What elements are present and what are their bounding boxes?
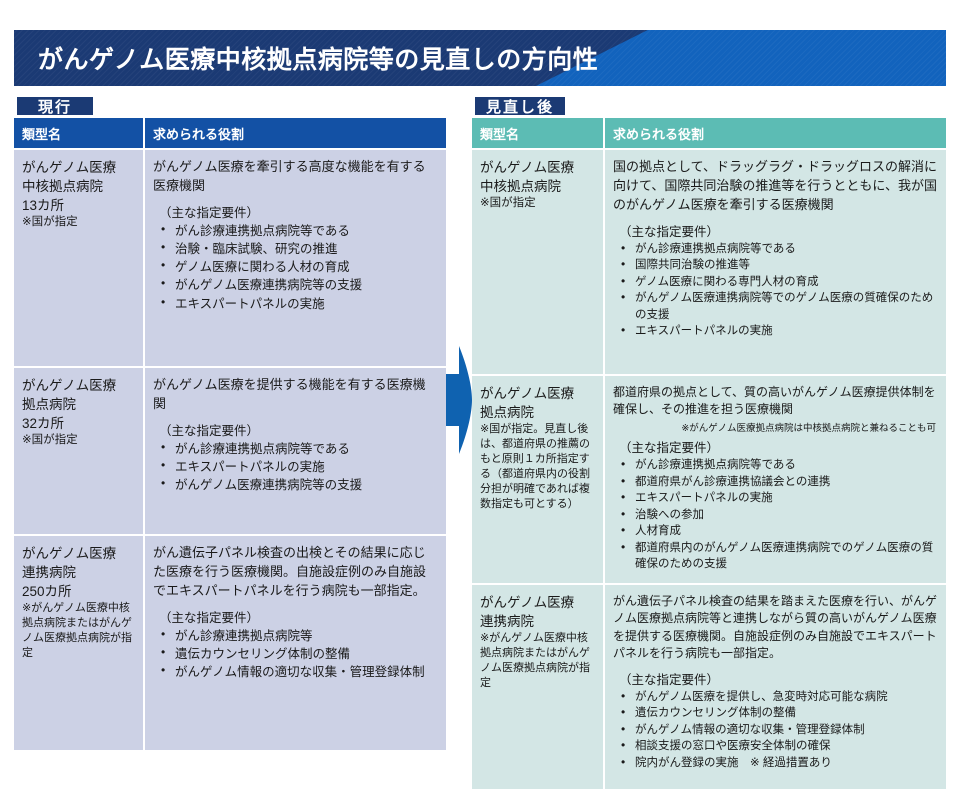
- role-footnote: ※がんゲノム医療拠点病院は中核拠点病院と兼ねることも可: [613, 423, 936, 435]
- type-name-text: がんゲノム医療拠点病院32カ所: [22, 376, 135, 433]
- list-item: ゲノム医療に関わる人材の育成: [153, 258, 438, 276]
- list-item: がん診療連携拠点病院等: [153, 627, 438, 645]
- requirements-title: （主な指定要件）: [159, 607, 438, 626]
- list-item: 都道府県内のがんゲノム医療連携病院でのゲノム医療の質確保のための支援: [613, 540, 938, 573]
- role-description: がん遺伝子パネル検査の出検とその結果に応じた医療を行う医療機関。自施設症例のみ自…: [153, 544, 438, 601]
- list-item: がんゲノム医療連携病院等でのゲノム医療の質確保のための支援: [613, 290, 938, 323]
- requirements-list: がん診療連携拠点病院等である エキスパートパネルの実施 がんゲノム医療連携病院等…: [153, 440, 438, 495]
- requirements-list: がん診療連携拠点病院等である 都道府県がん診療連携協議会との連携 エキスパートパ…: [613, 457, 938, 573]
- requirements-list: がん診療連携拠点病院等である 治験・臨床試験、研究の推進 ゲノム医療に関わる人材…: [153, 222, 438, 313]
- list-item: エキスパートパネルの実施: [153, 295, 438, 313]
- type-name-text: がんゲノム医療中核拠点病院13カ所: [22, 158, 135, 215]
- tab-revised-state[interactable]: 見直し後: [472, 94, 568, 118]
- role-cell: がん遺伝子パネル検査の出検とその結果に応じた医療を行う医療機関。自施設症例のみ自…: [144, 535, 446, 750]
- requirements-list: がん診療連携拠点病院等である 国際共同治験の推進等 ゲノム医療に関わる専門人材の…: [613, 241, 938, 340]
- table-header-row: 類型名 求められる役割: [472, 118, 946, 149]
- role-cell: 都道府県の拠点として、質の高いがんゲノム医療提供体制を確保し、その推進を担う医療…: [604, 375, 946, 584]
- type-name-note: ※がんゲノム医療中核拠点病院またはがんゲノム医療拠点病院が指定: [22, 601, 135, 661]
- list-item: がんゲノム医療連携病院等の支援: [153, 476, 438, 494]
- requirements-list: がん診療連携拠点病院等 遺伝カウンセリング体制の整備 がんゲノム情報の適切な収集…: [153, 627, 438, 682]
- column-header-role: 求められる役割: [144, 118, 446, 149]
- revised-state-table: 類型名 求められる役割 がんゲノム医療中核拠点病院 ※国が指定 国の拠点として、…: [472, 118, 946, 789]
- list-item: ゲノム医療に関わる専門人材の育成: [613, 274, 938, 291]
- table-row: がんゲノム医療連携病院250カ所 ※がんゲノム医療中核拠点病院またはがんゲノム医…: [14, 535, 446, 750]
- column-header-type-name: 類型名: [14, 118, 144, 149]
- role-description: がんゲノム医療を牽引する高度な機能を有する医療機関: [153, 158, 438, 196]
- role-cell: 国の拠点として、ドラッグラグ・ドラッグロスの解消に向けて、国際共同治験の推進等を…: [604, 149, 946, 375]
- list-item: 遺伝カウンセリング体制の整備: [613, 705, 938, 722]
- role-cell: がんゲノム医療を提供する機能を有する医療機関 （主な指定要件） がん診療連携拠点…: [144, 367, 446, 535]
- list-item: エキスパートパネルの実施: [153, 458, 438, 476]
- type-name-note: ※がんゲノム医療中核拠点病院またはがんゲノム医療拠点病院が指定: [480, 631, 595, 691]
- type-name-note: ※国が指定: [22, 433, 135, 449]
- type-name-text: がんゲノム医療連携病院: [480, 593, 595, 631]
- list-item: がんゲノム医療連携病院等の支援: [153, 276, 438, 294]
- requirements-title: （主な指定要件）: [159, 420, 438, 439]
- type-name-cell: がんゲノム医療拠点病院32カ所 ※国が指定: [14, 367, 144, 535]
- table-row: がんゲノム医療拠点病院32カ所 ※国が指定 がんゲノム医療を提供する機能を有する…: [14, 367, 446, 535]
- list-item: 遺伝カウンセリング体制の整備: [153, 645, 438, 663]
- role-description: 都道府県の拠点として、質の高いがんゲノム医療提供体制を確保し、その推進を担う医療…: [613, 384, 938, 419]
- type-name-cell: がんゲノム医療連携病院 ※がんゲノム医療中核拠点病院またはがんゲノム医療拠点病院…: [472, 584, 604, 789]
- list-item: 院内がん登録の実施 ※ 経過措置あり: [613, 755, 938, 772]
- type-name-text: がんゲノム医療拠点病院: [480, 384, 595, 422]
- requirements-title: （主な指定要件）: [619, 437, 938, 456]
- list-item: がん診療連携拠点病院等である: [613, 241, 938, 258]
- column-header-type-name: 類型名: [472, 118, 604, 149]
- list-item: がんゲノム情報の適切な収集・管理登録体制: [153, 663, 438, 681]
- role-description: がん遺伝子パネル検査の結果を踏まえた医療を行い、がんゲノム医療拠点病院等と連携し…: [613, 593, 938, 663]
- list-item: エキスパートパネルの実施: [613, 323, 938, 340]
- table-row: がんゲノム医療中核拠点病院 ※国が指定 国の拠点として、ドラッグラグ・ドラッグロ…: [472, 149, 946, 375]
- role-description: がんゲノム医療を提供する機能を有する医療機関: [153, 376, 438, 414]
- table-row: がんゲノム医療中核拠点病院13カ所 ※国が指定 がんゲノム医療を牽引する高度な機…: [14, 149, 446, 367]
- current-state-table: 類型名 求められる役割 がんゲノム医療中核拠点病院13カ所 ※国が指定 がんゲノ…: [14, 118, 446, 750]
- column-header-role: 求められる役割: [604, 118, 946, 149]
- role-cell: がんゲノム医療を牽引する高度な機能を有する医療機関 （主な指定要件） がん診療連…: [144, 149, 446, 367]
- type-name-cell: がんゲノム医療中核拠点病院13カ所 ※国が指定: [14, 149, 144, 367]
- list-item: がん診療連携拠点病院等である: [153, 222, 438, 240]
- role-cell: がん遺伝子パネル検査の結果を踏まえた医療を行い、がんゲノム医療拠点病院等と連携し…: [604, 584, 946, 789]
- requirements-title: （主な指定要件）: [619, 669, 938, 688]
- right-arrow-icon: [446, 344, 472, 456]
- type-name-note: ※国が指定。見直し後は、都道府県の推薦のもと原則１カ所指定する（都道府県内の役割…: [480, 422, 595, 512]
- list-item: がん診療連携拠点病院等である: [613, 457, 938, 474]
- list-item: 人材育成: [613, 523, 938, 540]
- page-title: がんゲノム医療中核拠点病院等の見直しの方向性: [38, 40, 598, 76]
- type-name-text: がんゲノム医療中核拠点病院: [480, 158, 595, 196]
- role-description: 国の拠点として、ドラッグラグ・ドラッグロスの解消に向けて、国際共同治験の推進等を…: [613, 158, 938, 215]
- type-name-note: ※国が指定: [22, 215, 135, 231]
- list-item: がんゲノム情報の適切な収集・管理登録体制: [613, 722, 938, 739]
- requirements-title: （主な指定要件）: [619, 221, 938, 240]
- requirements-list: がんゲノム医療を提供し、急変時対応可能な病院 遺伝カウンセリング体制の整備 がん…: [613, 689, 938, 772]
- requirements-title: （主な指定要件）: [159, 202, 438, 221]
- list-item: がん診療連携拠点病院等である: [153, 440, 438, 458]
- list-item: 治験・臨床試験、研究の推進: [153, 240, 438, 258]
- table-row: がんゲノム医療連携病院 ※がんゲノム医療中核拠点病院またはがんゲノム医療拠点病院…: [472, 584, 946, 789]
- list-item: 相談支援の窓口や医療安全体制の確保: [613, 738, 938, 755]
- type-name-cell: がんゲノム医療拠点病院 ※国が指定。見直し後は、都道府県の推薦のもと原則１カ所指…: [472, 375, 604, 584]
- type-name-cell: がんゲノム医療中核拠点病院 ※国が指定: [472, 149, 604, 375]
- type-name-cell: がんゲノム医療連携病院250カ所 ※がんゲノム医療中核拠点病院またはがんゲノム医…: [14, 535, 144, 750]
- list-item: 国際共同治験の推進等: [613, 257, 938, 274]
- type-name-note: ※国が指定: [480, 196, 595, 212]
- table-row: がんゲノム医療拠点病院 ※国が指定。見直し後は、都道府県の推薦のもと原則１カ所指…: [472, 375, 946, 584]
- list-item: エキスパートパネルの実施: [613, 490, 938, 507]
- list-item: 治験への参加: [613, 507, 938, 524]
- list-item: がんゲノム医療を提供し、急変時対応可能な病院: [613, 689, 938, 706]
- type-name-text: がんゲノム医療連携病院250カ所: [22, 544, 135, 601]
- table-header-row: 類型名 求められる役割: [14, 118, 446, 149]
- list-item: 都道府県がん診療連携協議会との連携: [613, 474, 938, 491]
- tab-current-state[interactable]: 現行: [14, 94, 96, 118]
- title-banner: がんゲノム医療中核拠点病院等の見直しの方向性: [14, 30, 946, 86]
